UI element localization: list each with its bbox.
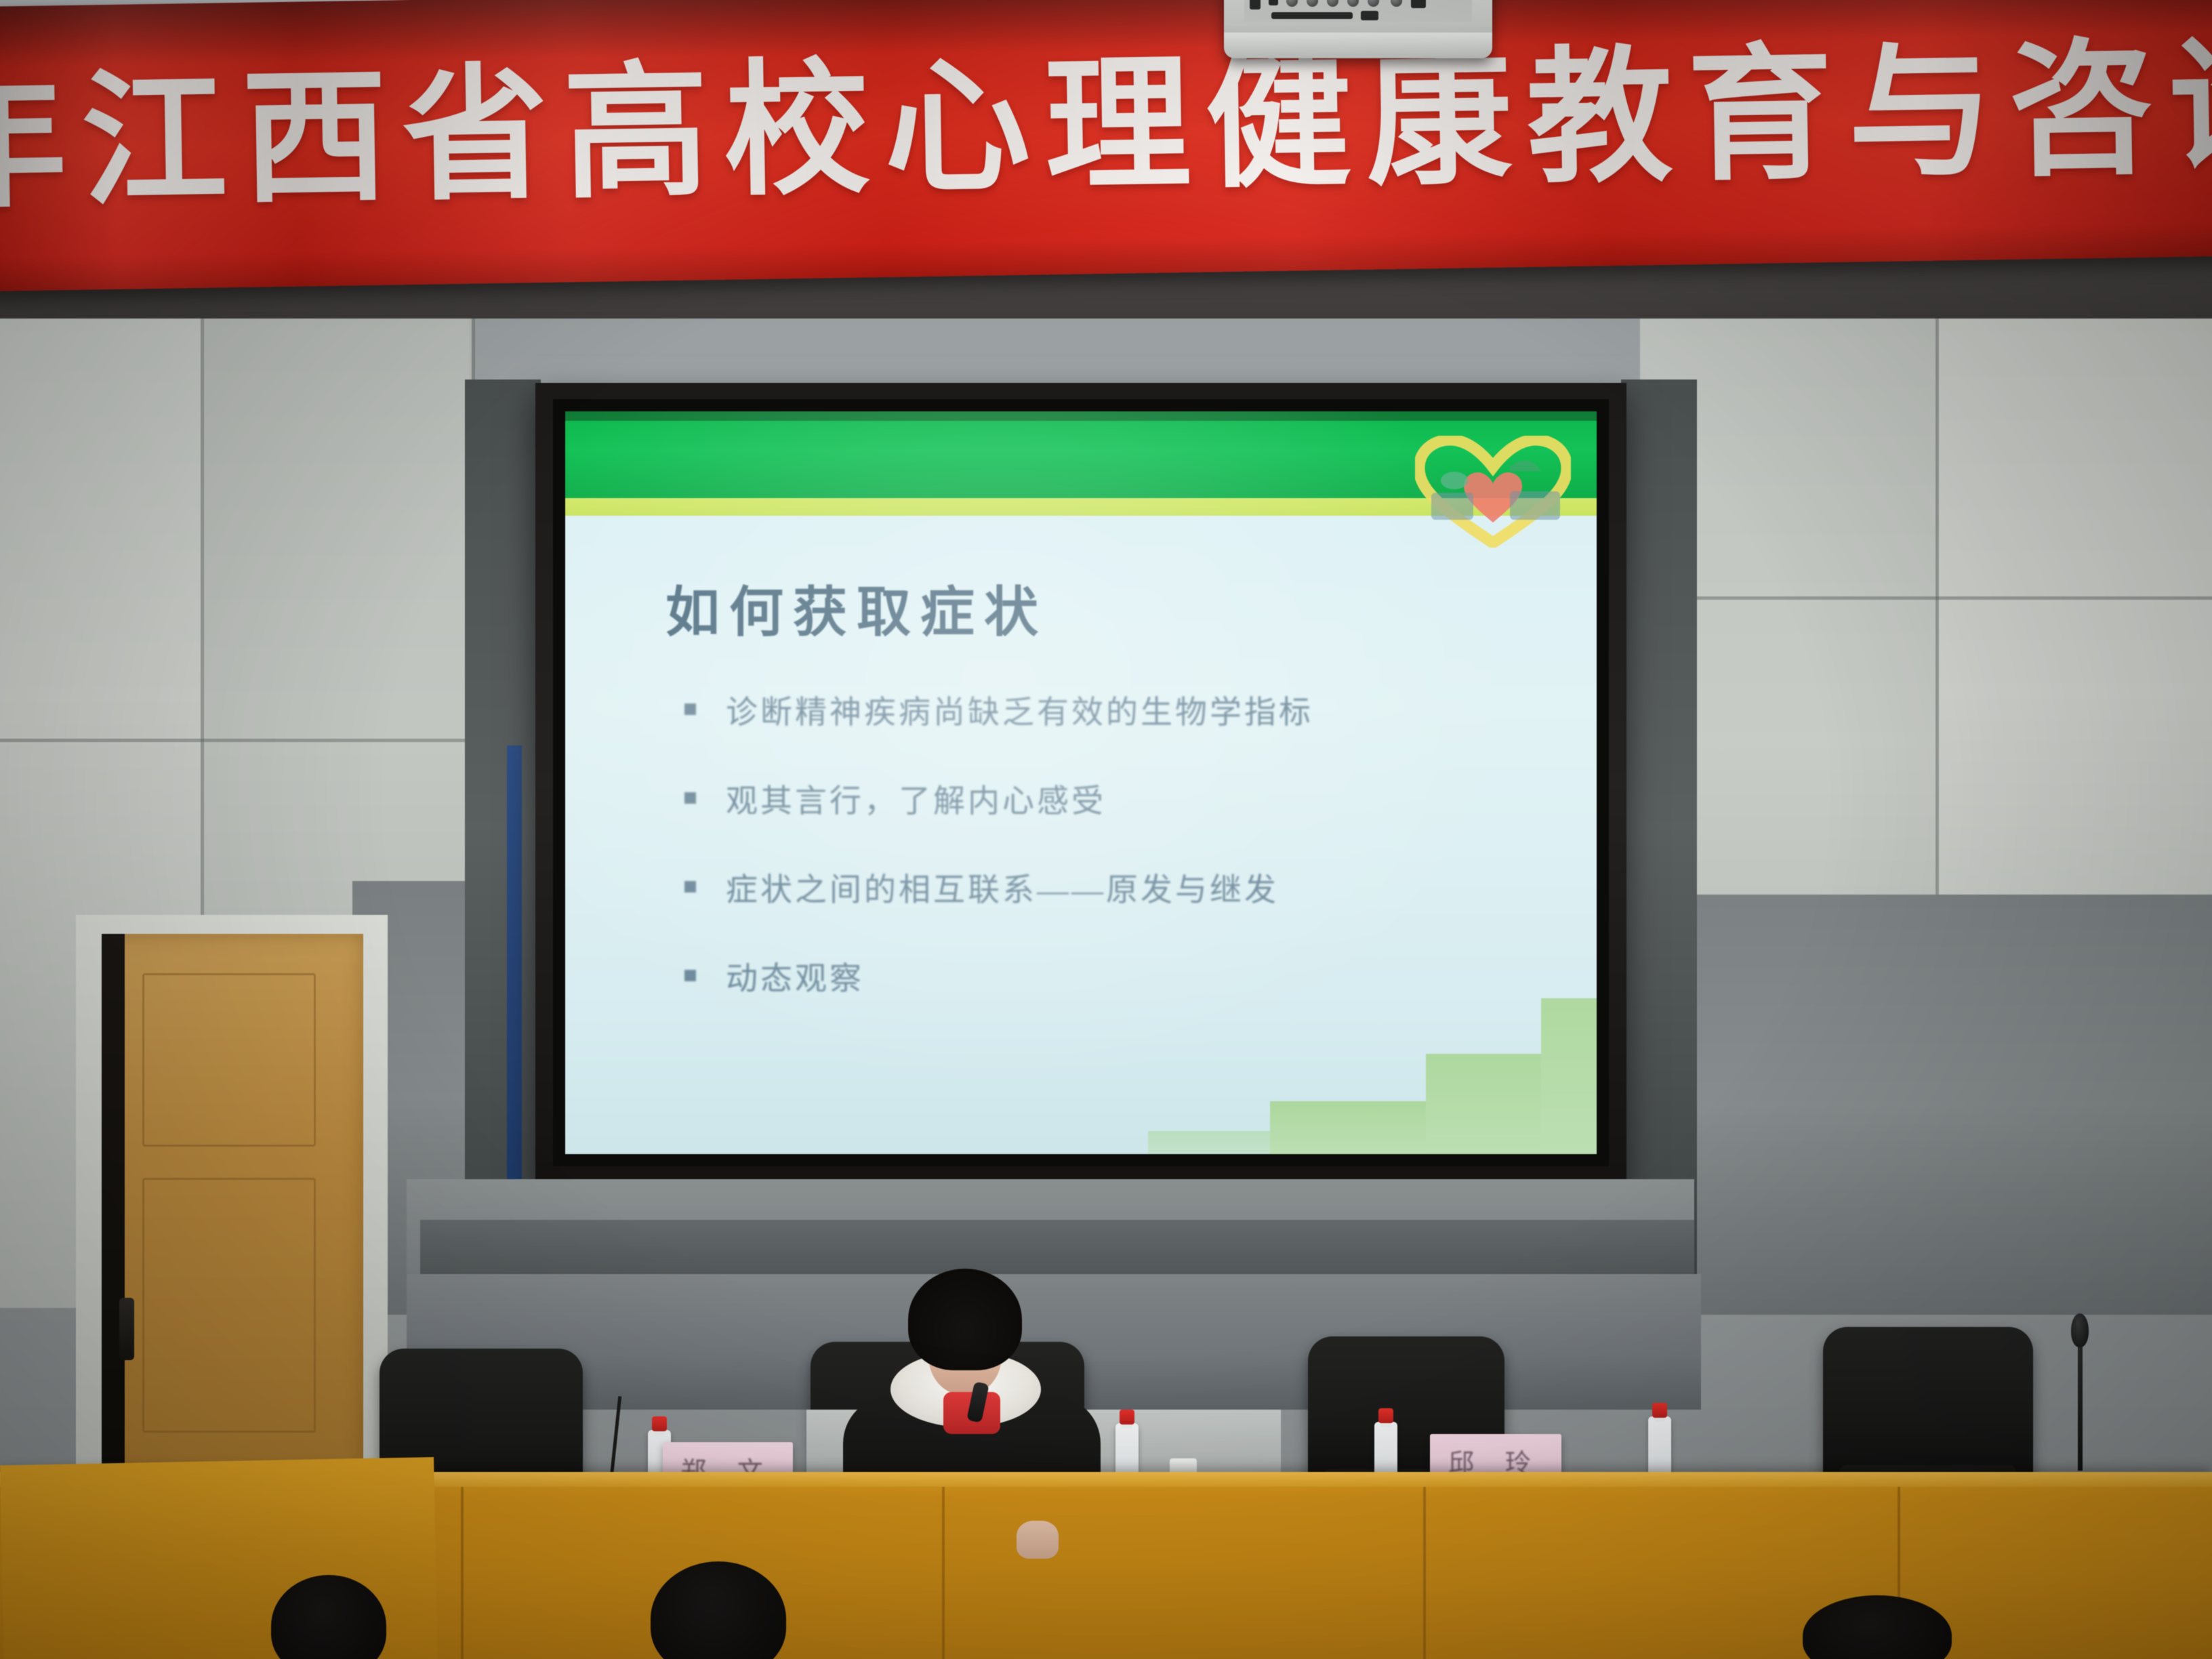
slide-header-shadow bbox=[565, 411, 1597, 421]
slide-bullet-text: 诊断精神疾病尚缺乏有效的生物学指标 bbox=[726, 686, 1313, 733]
projection-screen-surface: 如何获取症状 诊断精神疾病尚缺乏有效的生物学指标 观其言行，了解内心感受 症状之… bbox=[565, 411, 1597, 1154]
projector-port-panel bbox=[1244, 0, 1472, 22]
bullet-marker-icon bbox=[684, 792, 696, 804]
wall-seam-right-h bbox=[1640, 596, 2212, 600]
gooseneck-microphone-stand bbox=[2078, 1342, 2083, 1471]
projector-knob-3 bbox=[1327, 0, 1338, 7]
projector-knob-1 bbox=[1286, 0, 1298, 7]
projector-knob-2 bbox=[1307, 0, 1318, 7]
projection-screen-frame: 如何获取症状 诊断精神疾病尚缺乏有效的生物学指标 观其言行，了解内心感受 症状之… bbox=[553, 399, 1609, 1166]
bullet-marker-icon bbox=[684, 881, 696, 893]
banner-title: 年江西省高校心理健康教育与咨询工作年 bbox=[0, 35, 2212, 218]
podium-seam-3 bbox=[1423, 1487, 1426, 1659]
projector-vent bbox=[1271, 12, 1353, 19]
conference-hall-photo: 年江西省高校心理健康教育与咨询工作年 bbox=[0, 0, 2212, 1659]
slide-bullet-item: 症状之间的相互联系——原发与继发 bbox=[684, 863, 1565, 910]
door-handle[interactable] bbox=[119, 1298, 134, 1360]
event-banner: 年江西省高校心理健康教育与咨询工作年 bbox=[0, 0, 2212, 291]
right-wall-dado bbox=[1640, 895, 2212, 1315]
screen-right-pillar bbox=[1621, 380, 1697, 1274]
ceiling-projector bbox=[1224, 0, 1492, 58]
door-gap bbox=[102, 934, 125, 1476]
projector-knob-6 bbox=[1391, 0, 1402, 7]
chair-far-right[interactable] bbox=[1823, 1327, 2033, 1483]
podium-seam-1 bbox=[461, 1487, 464, 1659]
door-lower-panel bbox=[142, 1178, 316, 1433]
bullet-marker-icon bbox=[684, 970, 696, 981]
projector-port-3 bbox=[1411, 0, 1426, 8]
slide-bullet-item: 动态观察 bbox=[684, 952, 1565, 999]
projector-knob-5 bbox=[1368, 0, 1379, 7]
slide-bullet-list: 诊断精神疾病尚缺乏有效的生物学指标 观其言行，了解内心感受 症状之间的相互联系—… bbox=[684, 686, 1565, 1041]
stage-band bbox=[420, 1220, 1694, 1274]
side-door[interactable] bbox=[102, 934, 363, 1476]
projection-screen-housing: 如何获取症状 诊断精神疾病尚缺乏有效的生物学指标 观其言行，了解内心感受 症状之… bbox=[535, 383, 1626, 1183]
door-upper-panel bbox=[142, 973, 316, 1147]
projector-port-1 bbox=[1250, 0, 1261, 9]
projector-port-4 bbox=[1361, 11, 1378, 20]
slide-bullet-text: 动态观察 bbox=[726, 952, 864, 999]
left-blue-rail bbox=[507, 745, 522, 1179]
slide-deco-step-2 bbox=[1426, 1054, 1541, 1154]
speaker-hair bbox=[908, 1269, 1022, 1370]
bottle-cap bbox=[652, 1416, 667, 1431]
projector-knob-4 bbox=[1347, 0, 1359, 7]
slide-deco-step-0 bbox=[1148, 1131, 1270, 1154]
screen-left-pillar bbox=[465, 380, 541, 1274]
heart-logo bbox=[1415, 436, 1571, 548]
bottle-cap bbox=[1120, 1410, 1134, 1425]
wall-seam-left-h bbox=[0, 739, 474, 742]
projector-lens-housing bbox=[1224, 33, 1492, 58]
slide-bullet-item: 诊断精神疾病尚缺乏有效的生物学指标 bbox=[684, 686, 1565, 733]
wall-seam-right bbox=[1935, 298, 1939, 908]
speaker-hand bbox=[1017, 1521, 1059, 1559]
slide-deco-step-1 bbox=[1270, 1101, 1426, 1154]
bottle-cap bbox=[1378, 1408, 1393, 1423]
slide-bullet-item: 观其言行，了解内心感受 bbox=[684, 775, 1565, 821]
slide-bullet-text: 症状之间的相互联系——原发与继发 bbox=[726, 863, 1279, 910]
bottle-cap bbox=[1652, 1403, 1667, 1418]
bullet-marker-icon bbox=[684, 703, 696, 715]
gooseneck-microphone-head bbox=[2071, 1313, 2089, 1347]
podium-seam-2 bbox=[942, 1487, 945, 1659]
projector-port-2 bbox=[1269, 0, 1278, 5]
slide-bullet-text: 观其言行，了解内心感受 bbox=[726, 775, 1106, 821]
slide-title: 如何获取症状 bbox=[665, 569, 1048, 647]
